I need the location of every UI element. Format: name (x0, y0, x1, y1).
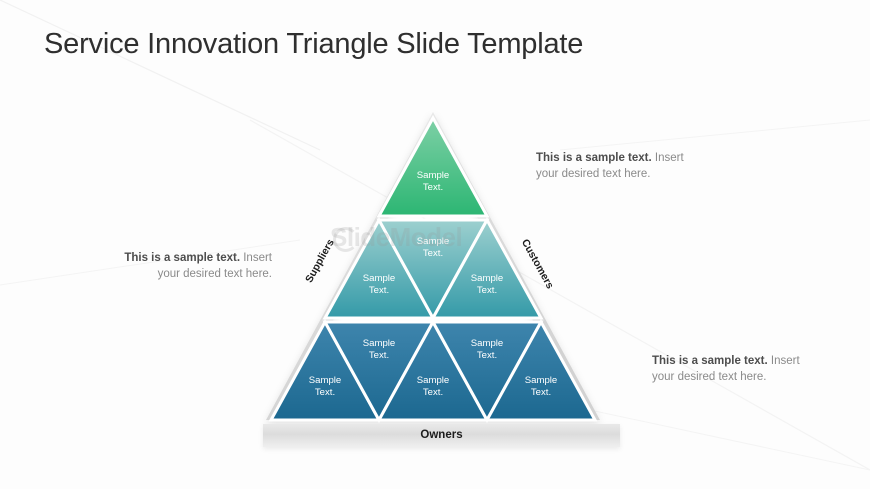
callout-bottom-right: This is a sample text. Insert your desir… (652, 353, 820, 385)
cell-label-line2: Text. (369, 350, 389, 361)
callout-lead: This is a sample text. (536, 152, 652, 164)
cell-label-line1: Sample (309, 375, 342, 386)
cell-label-line2: Text. (477, 285, 497, 296)
cell-label-line1: Sample (471, 338, 504, 349)
callout-lead: This is a sample text. (652, 355, 768, 367)
triangle-diagram[interactable]: Sample Text. Sample Text. Sample Text. S… (0, 0, 870, 489)
cell-label-line1: Sample (363, 338, 396, 349)
triangle-cell-row1-0[interactable]: Sample Text. (379, 118, 487, 216)
cell-label-line2: Text. (423, 182, 443, 193)
callout-lead: This is a sample text. (124, 252, 240, 264)
triangle-base-bar: Owners (263, 424, 620, 447)
cell-label-line1: Sample (417, 236, 450, 247)
triangle-edge-label-owners: Owners (263, 424, 620, 447)
callout-top-right: This is a sample text. Insert your desir… (536, 150, 704, 182)
cell-label-line2: Text. (369, 285, 389, 296)
cell-label-line1: Sample (471, 273, 504, 284)
cell-label-line2: Text. (423, 387, 443, 398)
cell-label-line2: Text. (315, 387, 335, 398)
cell-label-line1: Sample (363, 273, 396, 284)
cell-label-line2: Text. (531, 387, 551, 398)
cell-label-line1: Sample (417, 170, 450, 181)
callout-left: This is a sample text. Insert your desir… (104, 250, 272, 282)
cell-label-line1: Sample (417, 375, 450, 386)
cell-label-line1: Sample (525, 375, 558, 386)
triangle-shape (379, 118, 487, 216)
cell-label-line2: Text. (423, 248, 443, 259)
cell-label-line2: Text. (477, 350, 497, 361)
